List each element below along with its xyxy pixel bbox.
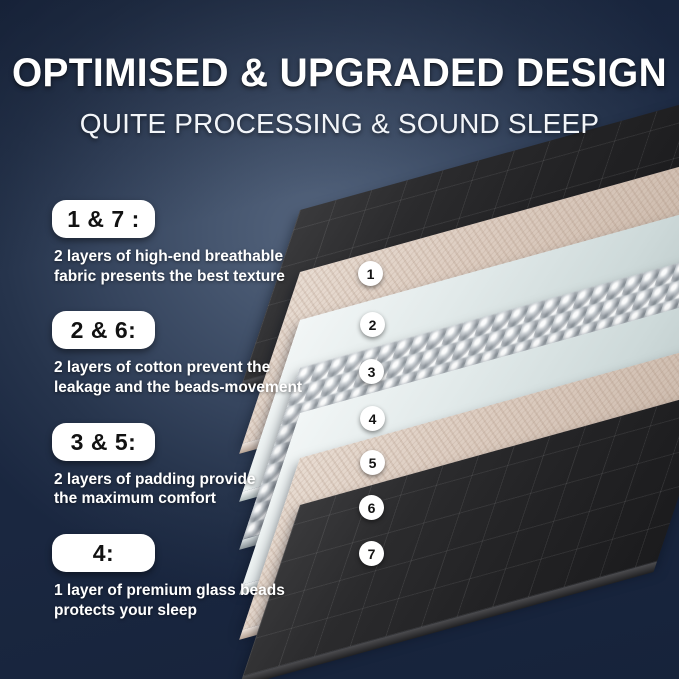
callout-2-description: 2 layers of cotton prevent the leakage a… — [54, 358, 304, 397]
layer-diagram — [300, 150, 679, 670]
layer-badge-4: 4 — [360, 406, 385, 431]
callout-3-label: 3 & 5: — [52, 423, 155, 461]
callout-4: 4: 1 layer of premium glass beads protec… — [52, 534, 352, 620]
callout-4-line-2: protects your sleep — [54, 601, 304, 621]
callout-2-line-2: leakage and the beads-movement — [54, 378, 304, 398]
callout-3-description: 2 layers of padding provide the maximum … — [54, 470, 304, 509]
callout-1-description: 2 layers of high-end breathable fabric p… — [54, 247, 304, 286]
layer-badge-5: 5 — [360, 450, 385, 475]
callout-2-line-1: 2 layers of cotton prevent the — [54, 358, 304, 378]
callout-4-label: 4: — [52, 534, 155, 572]
page-subtitle: QUITE PROCESSING & SOUND SLEEP — [0, 108, 679, 140]
callout-4-description: 1 layer of premium glass beads protects … — [54, 581, 304, 620]
callout-3-line-2: the maximum comfort — [54, 489, 304, 509]
callout-1-and-7: 1 & 7 : 2 layers of high-end breathable … — [52, 200, 352, 286]
layer-badge-2: 2 — [360, 312, 385, 337]
layer-badge-1: 1 — [358, 261, 383, 286]
callout-2-and-6: 2 & 6: 2 layers of cotton prevent the le… — [52, 311, 352, 397]
header-block: OPTIMISED & UPGRADED DESIGN QUITE PROCES… — [0, 52, 679, 140]
callout-1-line-1: 2 layers of high-end breathable — [54, 247, 304, 267]
product-infographic: OPTIMISED & UPGRADED DESIGN QUITE PROCES… — [0, 0, 679, 679]
layer-badge-3: 3 — [359, 359, 384, 384]
callout-2-label: 2 & 6: — [52, 311, 155, 349]
callout-3-line-1: 2 layers of padding provide — [54, 470, 304, 490]
callout-4-line-1: 1 layer of premium glass beads — [54, 581, 304, 601]
page-title: OPTIMISED & UPGRADED DESIGN — [10, 52, 669, 94]
layer-badge-6: 6 — [359, 495, 384, 520]
callout-1-label: 1 & 7 : — [52, 200, 155, 238]
layer-badge-7: 7 — [359, 541, 384, 566]
callout-1-line-2: fabric presents the best texture — [54, 267, 304, 287]
callout-list: 1 & 7 : 2 layers of high-end breathable … — [52, 200, 352, 620]
callout-3-and-5: 3 & 5: 2 layers of padding provide the m… — [52, 423, 352, 509]
